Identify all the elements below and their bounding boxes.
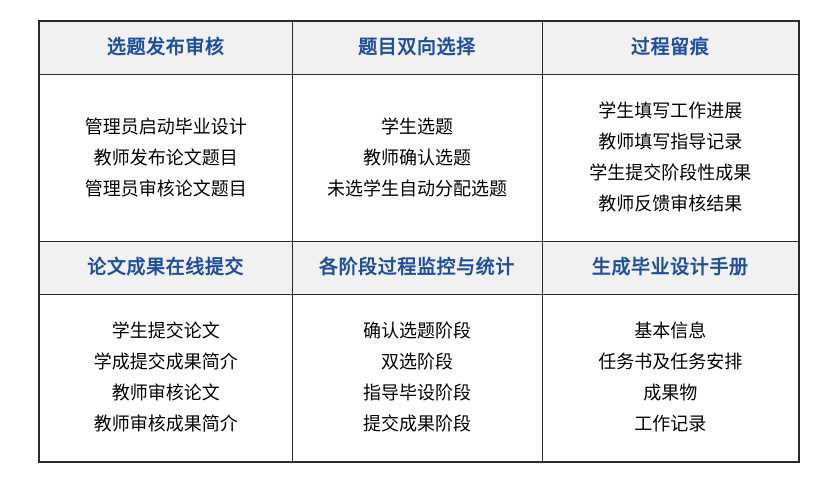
module-body-cell-4: 确认选题阶段 双选阶段 指导毕设阶段 提交成果阶段 bbox=[292, 295, 542, 463]
module-header-label-4: 各阶段过程监控与统计 bbox=[293, 242, 542, 294]
module-item-list-2: 学生填写工作进展 教师填写指导记录 学生提交阶段性成果 教师反馈审核结果 bbox=[543, 96, 799, 220]
list-item: 基本信息 bbox=[543, 316, 799, 347]
module-header-label-5: 生成毕业设计手册 bbox=[543, 242, 799, 294]
list-item: 教师发布论文题目 bbox=[40, 143, 292, 174]
list-item: 教师审核论文 bbox=[40, 378, 292, 409]
list-item: 教师反馈审核结果 bbox=[543, 189, 799, 220]
module-header-cell-5: 生成毕业设计手册 bbox=[542, 242, 799, 295]
list-item: 管理员启动毕业设计 bbox=[40, 112, 292, 143]
list-item: 教师填写指导记录 bbox=[543, 127, 799, 158]
module-header-label-2: 过程留痕 bbox=[543, 22, 799, 74]
list-item: 指导毕设阶段 bbox=[293, 378, 542, 409]
page-root: 选题发布审核 题目双向选择 过程留痕 管理员启动毕业设计 教师发布论文题目 管理… bbox=[0, 0, 836, 477]
module-item-list-0: 管理员启动毕业设计 教师发布论文题目 管理员审核论文题目 bbox=[40, 112, 292, 205]
list-item: 学生提交阶段性成果 bbox=[543, 158, 799, 189]
module-body-cell-2: 学生填写工作进展 教师填写指导记录 学生提交阶段性成果 教师反馈审核结果 bbox=[542, 75, 799, 242]
list-item: 工作记录 bbox=[543, 409, 799, 440]
table-header-row-2: 论文成果在线提交 各阶段过程监控与统计 生成毕业设计手册 bbox=[39, 242, 799, 295]
list-item: 教师确认选题 bbox=[293, 143, 542, 174]
table-header-row-1: 选题发布审核 题目双向选择 过程留痕 bbox=[39, 21, 799, 75]
module-body-cell-1: 学生选题 教师确认选题 未选学生自动分配选题 bbox=[292, 75, 542, 242]
table-body-row-2: 学生提交论文 学成提交成果简介 教师审核论文 教师审核成果简介 确认选题阶段 双… bbox=[39, 295, 799, 463]
module-header-label-3: 论文成果在线提交 bbox=[40, 242, 292, 294]
list-item: 学生提交论文 bbox=[40, 316, 292, 347]
module-table: 选题发布审核 题目双向选择 过程留痕 管理员启动毕业设计 教师发布论文题目 管理… bbox=[38, 20, 800, 463]
list-item: 双选阶段 bbox=[293, 347, 542, 378]
list-item: 提交成果阶段 bbox=[293, 409, 542, 440]
list-item: 管理员审核论文题目 bbox=[40, 174, 292, 205]
module-header-cell-0: 选题发布审核 bbox=[39, 21, 292, 75]
module-header-label-1: 题目双向选择 bbox=[293, 22, 542, 74]
list-item: 学生填写工作进展 bbox=[543, 96, 799, 127]
table-body-row-1: 管理员启动毕业设计 教师发布论文题目 管理员审核论文题目 学生选题 教师确认选题… bbox=[39, 75, 799, 242]
module-header-label-0: 选题发布审核 bbox=[40, 22, 292, 74]
module-header-cell-1: 题目双向选择 bbox=[292, 21, 542, 75]
list-item: 学生选题 bbox=[293, 112, 542, 143]
list-item: 学成提交成果简介 bbox=[40, 347, 292, 378]
module-header-cell-3: 论文成果在线提交 bbox=[39, 242, 292, 295]
module-body-cell-3: 学生提交论文 学成提交成果简介 教师审核论文 教师审核成果简介 bbox=[39, 295, 292, 463]
list-item: 任务书及任务安排 bbox=[543, 347, 799, 378]
list-item: 教师审核成果简介 bbox=[40, 409, 292, 440]
module-header-cell-2: 过程留痕 bbox=[542, 21, 799, 75]
list-item: 成果物 bbox=[543, 378, 799, 409]
module-header-cell-4: 各阶段过程监控与统计 bbox=[292, 242, 542, 295]
module-item-list-5: 基本信息 任务书及任务安排 成果物 工作记录 bbox=[543, 316, 799, 440]
module-item-list-3: 学生提交论文 学成提交成果简介 教师审核论文 教师审核成果简介 bbox=[40, 316, 292, 440]
module-body-cell-5: 基本信息 任务书及任务安排 成果物 工作记录 bbox=[542, 295, 799, 463]
module-body-cell-0: 管理员启动毕业设计 教师发布论文题目 管理员审核论文题目 bbox=[39, 75, 292, 242]
list-item: 未选学生自动分配选题 bbox=[293, 174, 542, 205]
module-item-list-1: 学生选题 教师确认选题 未选学生自动分配选题 bbox=[293, 112, 542, 205]
module-item-list-4: 确认选题阶段 双选阶段 指导毕设阶段 提交成果阶段 bbox=[293, 316, 542, 440]
list-item: 确认选题阶段 bbox=[293, 316, 542, 347]
